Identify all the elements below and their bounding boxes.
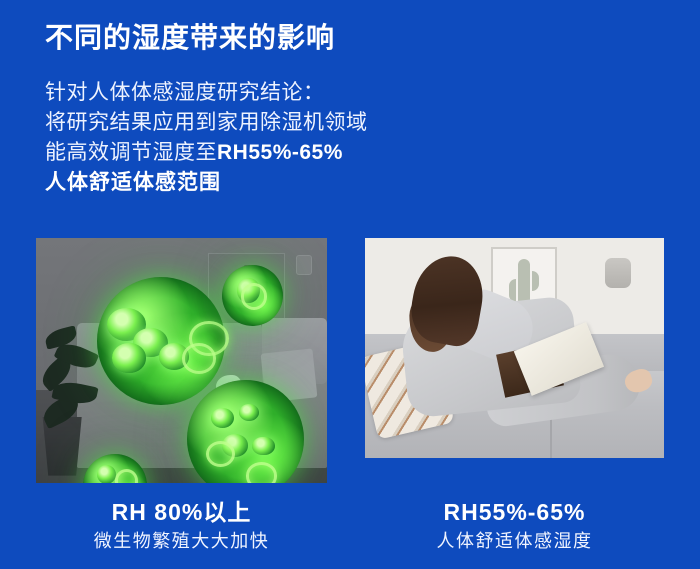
microbe-cluster-icon [97, 277, 225, 404]
intro-line-3-highlight: RH55%-65% [217, 141, 343, 164]
intro-line-3: 能高效调节湿度至RH55%-65% [45, 138, 368, 168]
intro-line-2: 将研究结果应用到家用除湿机领域 [45, 108, 368, 138]
caption-subtitle: 微生物繁殖大大加快 [36, 527, 327, 555]
caption-title: RH55%-65% [365, 497, 664, 527]
wall-sensor-icon [296, 255, 312, 275]
caption-comfort-humidity: RH55%-65% 人体舒适体感湿度 [365, 497, 664, 555]
caption-high-humidity: RH 80%以上 微生物繁殖大大加快 [36, 497, 327, 555]
page-title: 不同的湿度带来的影响 [45, 19, 335, 57]
intro-line-3-prefix: 能高效调节湿度至 [45, 141, 217, 164]
intro-line-4: 人体舒适体感范围 [45, 168, 368, 198]
intro-text-block: 针对人体体感湿度研究结论： 将研究结果应用到家用除湿机领域 能高效调节湿度至RH… [45, 78, 368, 198]
panel-image-high-humidity [36, 238, 327, 483]
living-room-dim-scene [36, 238, 327, 483]
caption-title: RH 80%以上 [36, 497, 327, 527]
wall-sensor-icon [605, 258, 631, 288]
microbe-cluster-icon [187, 380, 303, 483]
intro-line-1: 针对人体体感湿度研究结论： [45, 78, 368, 108]
promo-slide: 不同的湿度带来的影响 针对人体体感湿度研究结论： 将研究结果应用到家用除湿机领域… [0, 0, 700, 569]
living-room-bright-scene [365, 238, 664, 458]
panel-image-comfort-humidity [365, 238, 664, 458]
caption-subtitle: 人体舒适体感湿度 [365, 527, 664, 555]
